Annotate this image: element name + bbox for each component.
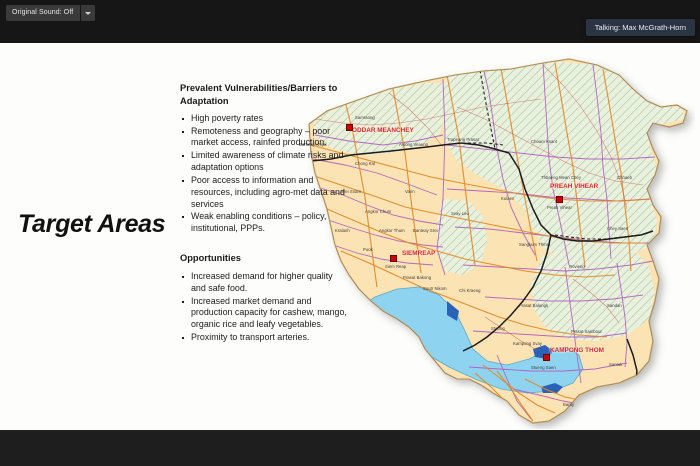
chevron-down-icon[interactable] (81, 5, 95, 21)
list-item: Increased demand for higher quality and … (180, 271, 348, 295)
list-item: Limited awareness of climate risks and a… (180, 150, 348, 174)
slide-body-text: Prevalent Vulnerabilities/Barriers to Ad… (180, 82, 348, 345)
list-item: Proximity to transport arteries. (180, 332, 348, 344)
cambodia-target-provinces-map: ODDAR MEANCHEY PREAH VIHEAR SIEMREAP KAM… (297, 49, 695, 429)
opportunities-bullet-list: Increased demand for higher quality and … (180, 271, 348, 344)
presentation-slide: Target Areas (0, 43, 700, 430)
original-sound-button[interactable]: Original Sound: Off (6, 5, 95, 21)
meeting-bottom-bar (0, 430, 700, 466)
list-item: High poverty rates (180, 113, 348, 125)
list-item: Weak enabling conditions – policy, insti… (180, 211, 348, 235)
list-item: Remoteness and geography – poor market a… (180, 126, 348, 150)
map-marker-preah-vihear (556, 196, 563, 203)
status-badge-talking: Talking: Max McGrath-Horn (586, 19, 695, 36)
vulnerabilities-bullet-list: High poverty rates Remoteness and geogra… (180, 113, 348, 235)
map-svg (297, 49, 695, 429)
original-sound-label: Original Sound: Off (6, 5, 80, 21)
list-item: Poor access to information and resources… (180, 175, 348, 211)
map-marker-kampong-thom (543, 354, 550, 361)
section-heading-vulnerabilities: Prevalent Vulnerabilities/Barriers to Ad… (180, 82, 348, 108)
zoom-slide-stage: Target Areas (0, 0, 700, 466)
page-title: Target Areas (18, 211, 193, 237)
list-item: Increased market demand and production c… (180, 296, 348, 332)
section-heading-opportunities: Opportunities (180, 252, 348, 265)
map-marker-siemreap (390, 255, 397, 262)
